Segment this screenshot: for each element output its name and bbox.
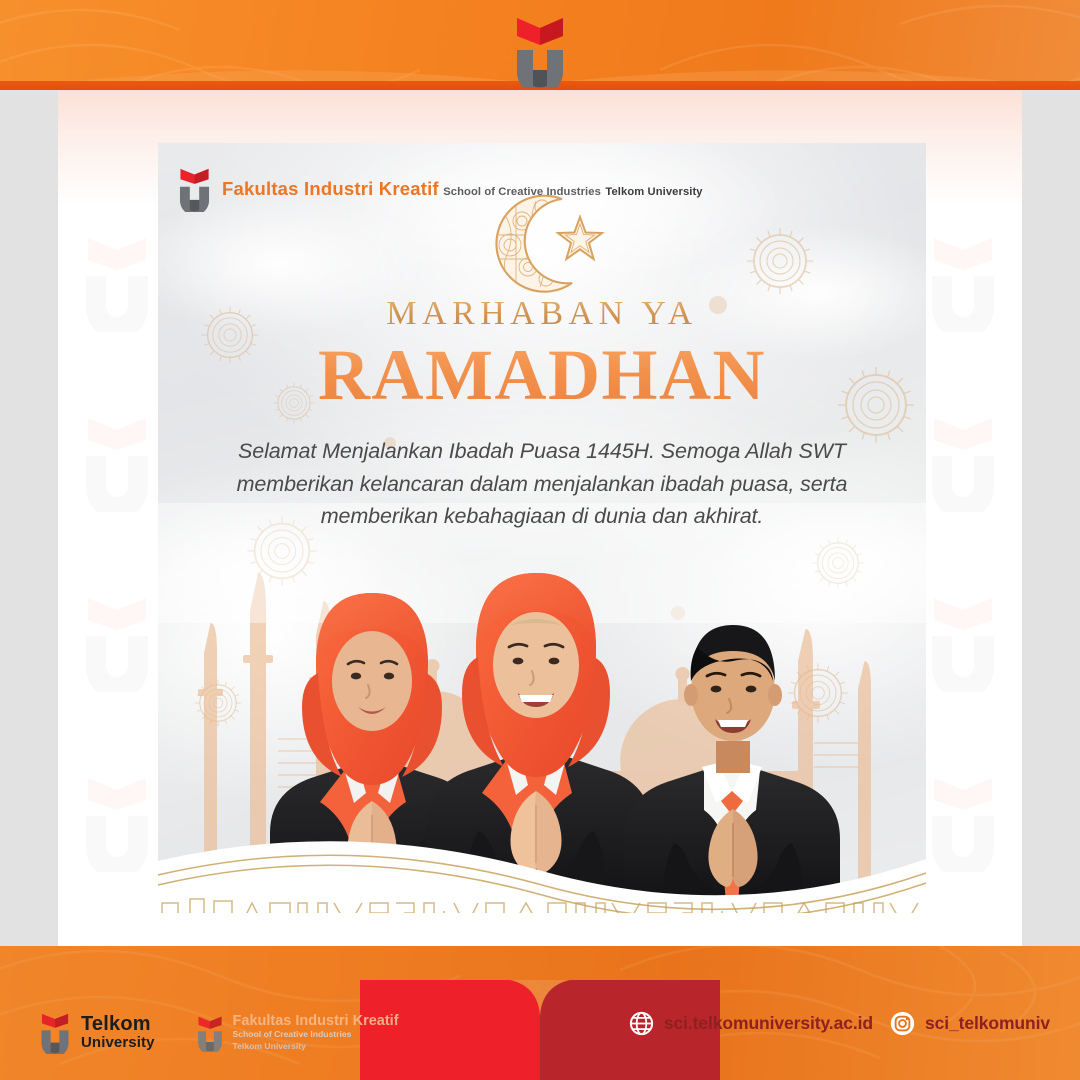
- footer-left-logos: Telkom University Fakultas Industri Krea…: [38, 1012, 399, 1054]
- instagram-label: sci_telkomuniv: [925, 1013, 1050, 1034]
- poster-canvas: Fakultas Industri Kreatif School of Crea…: [0, 0, 1080, 1080]
- watermark-logo: [78, 416, 156, 512]
- instagram-icon: [890, 1011, 915, 1036]
- fik-footer-logo: Fakultas Industri Kreatif School of Crea…: [195, 1014, 399, 1052]
- telkom-line2: University: [81, 1034, 155, 1051]
- ramadhan-poster: Fakultas Industri Kreatif School of Crea…: [158, 143, 926, 933]
- watermark-logo: [924, 236, 1002, 332]
- fik-logo: Fakultas Industri Kreatif School of Crea…: [176, 167, 703, 212]
- right-edge-strip: [1022, 86, 1080, 994]
- telkom-line1: Telkom: [81, 1014, 155, 1034]
- telkom-u-logo-icon: [176, 167, 213, 212]
- left-edge-strip: [0, 86, 58, 994]
- watermark-logo: [78, 596, 156, 692]
- telkom-logo-text: Telkom University: [81, 1014, 155, 1051]
- geometric-ornament-band-icon: [158, 793, 926, 933]
- telkom-u-logo-icon: [497, 14, 583, 88]
- watermark-logo: [78, 236, 156, 332]
- fik-footer-text: Fakultas Industri Kreatif School of Crea…: [233, 1014, 399, 1052]
- watermark-logo: [924, 776, 1002, 872]
- website-label: sci.telkomuniversity.ac.id: [664, 1013, 873, 1034]
- fik-faculty-en: School of Creative Industries: [443, 186, 601, 198]
- globe-icon: [629, 1011, 654, 1036]
- watermark-logo: [924, 596, 1002, 692]
- page-title: RAMADHAN: [158, 338, 926, 414]
- top-banner: [0, 0, 1080, 90]
- fik-university: Telkom University: [605, 186, 702, 198]
- fik-footer-line3: Telkom University: [233, 1041, 399, 1052]
- telkom-university-logo: Telkom University: [38, 1012, 155, 1054]
- watermark-logo: [924, 416, 1002, 512]
- footer-contacts: sci.telkomuniversity.ac.id sci_telkomuni…: [629, 1011, 1050, 1036]
- headline-kicker: MARHABAN YA: [158, 295, 926, 332]
- fik-footer-line2: School of Creative Industries: [233, 1029, 399, 1040]
- watermark-logo: [78, 776, 156, 872]
- fik-logo-text: Fakultas Industri Kreatif School of Crea…: [222, 179, 703, 200]
- fik-faculty-name: Fakultas Industri Kreatif: [222, 178, 439, 199]
- fik-footer-line1: Fakultas Industri Kreatif: [233, 1014, 399, 1029]
- bottom-banner: Telkom University Fakultas Industri Krea…: [0, 946, 1080, 1080]
- instagram-contact[interactable]: sci_telkomuniv: [890, 1011, 1050, 1036]
- greeting-message: Selamat Menjalankan Ibadah Puasa 1445H. …: [216, 435, 868, 533]
- website-contact[interactable]: sci.telkomuniversity.ac.id: [629, 1011, 873, 1036]
- telkom-u-logo-icon: [38, 1012, 72, 1054]
- telkom-u-logo-icon: [195, 1015, 225, 1052]
- headline-block: MARHABAN YA RAMADHAN: [158, 295, 926, 414]
